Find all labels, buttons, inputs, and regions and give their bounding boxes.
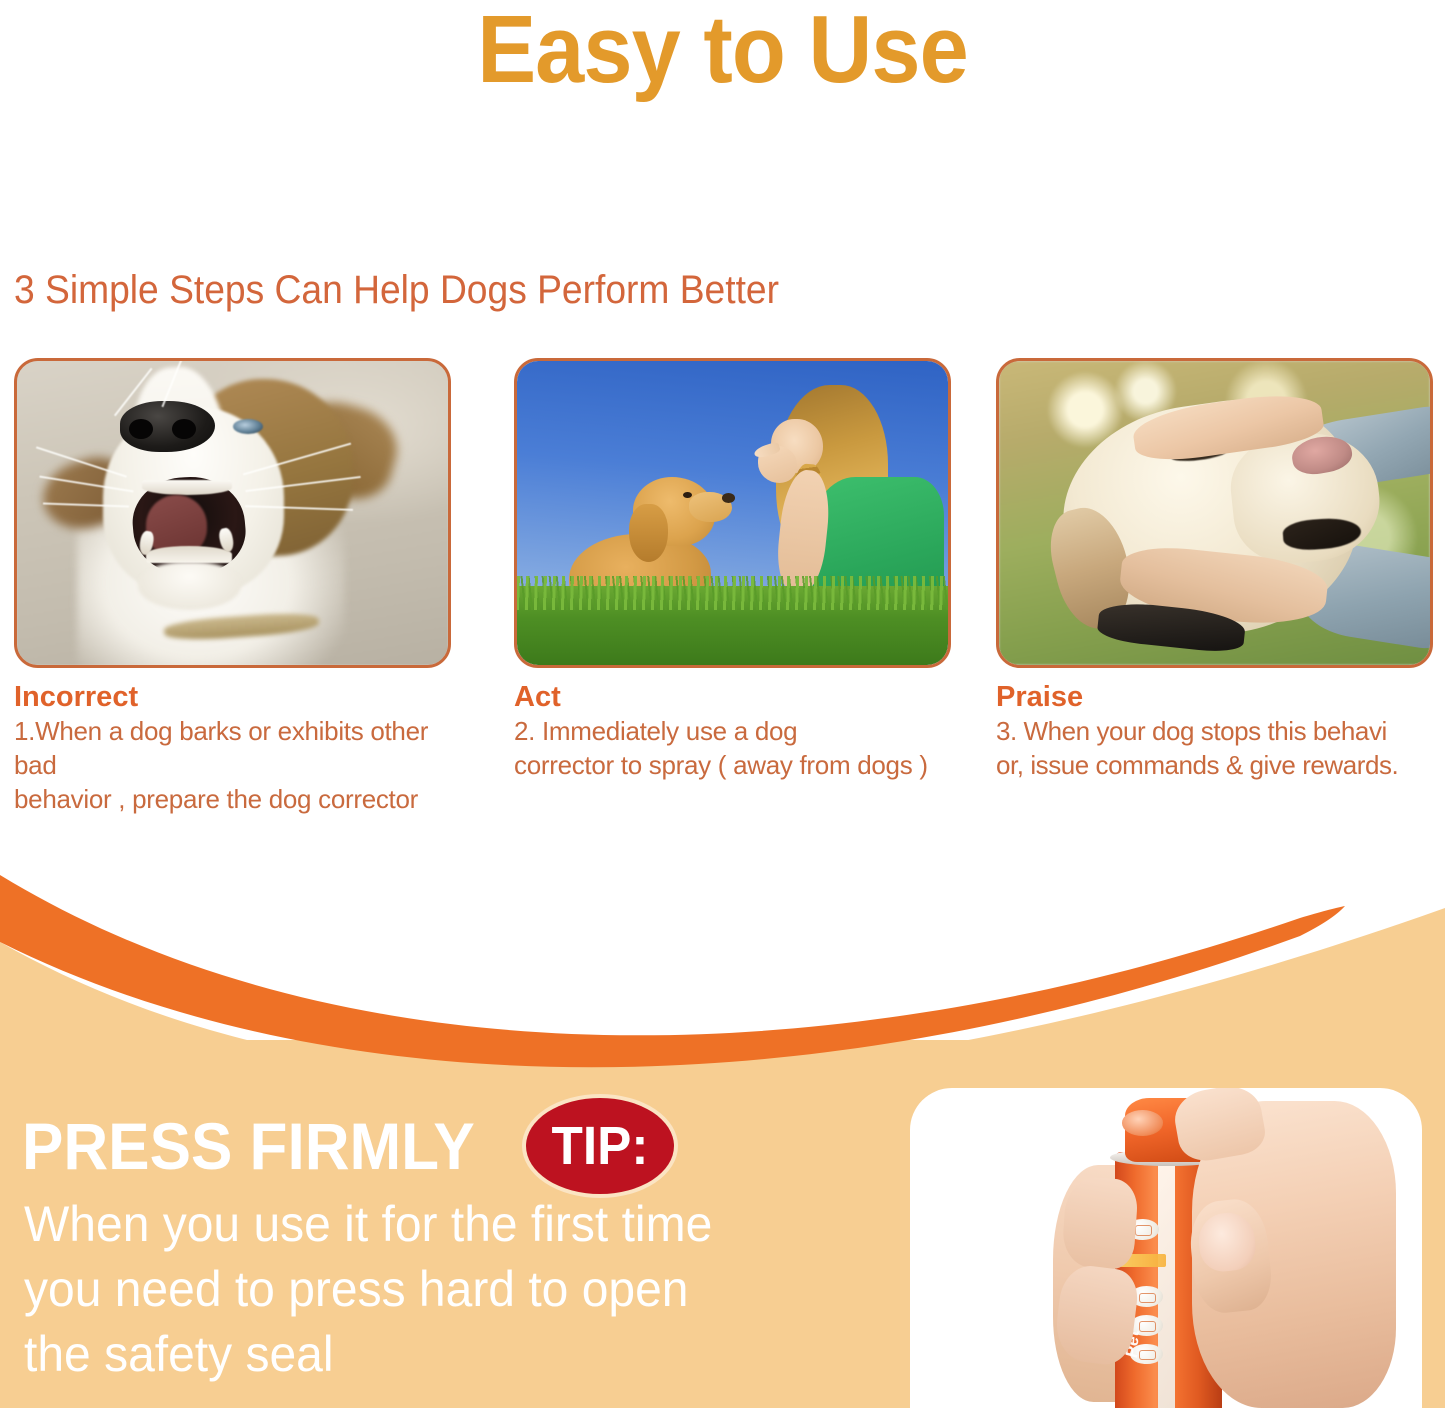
step-body: 3. When your dog stops this behavi or, i… [996,715,1433,783]
page-subtitle: 3 Simple Steps Can Help Dogs Perform Bet… [14,268,779,313]
step-heading: Act [514,682,951,712]
step-body-line: or, issue commands & give rewards. [996,749,1433,783]
steps-row: Incorrect 1.When a dog barks or exhibits… [0,358,1445,818]
step-body-line: 2. Immediately use a dog [514,715,951,749]
step-photo-training-dog [514,358,951,668]
step-photo-petting-dog [996,358,1433,668]
step-body: 1.When a dog barks or exhibits other bad… [14,715,451,816]
tip-body-line: When you use it for the first time [24,1192,840,1257]
tip-body-line: the safety seal [24,1322,840,1387]
step-body-line: 3. When your dog stops this behavi [996,715,1433,749]
step-body: 2. Immediately use a dog corrector to sp… [514,715,951,783]
page-title: Easy to Use [58,0,1387,104]
step-body-line: corrector to spray ( away from dogs ) [514,749,951,783]
tip-body-text: When you use it for the first time you n… [24,1192,840,1387]
tip-badge: TIP: [526,1098,674,1194]
infographic-page: Easy to Use 3 Simple Steps Can Help Dogs… [0,0,1445,1408]
step-card-incorrect: Incorrect 1.When a dog barks or exhibits… [14,358,451,817]
step-heading: Incorrect [14,682,451,712]
step-body-line: behavior , prepare the dog corrector [14,783,451,817]
tip-badge-label: TIP: [551,1119,648,1173]
step-body-line: 1.When a dog barks or exhibits other bad [14,715,451,783]
tip-body-line: you need to press hard to open [24,1257,840,1322]
press-firmly-row: PRESS FIRMLY TIP: [22,1098,674,1194]
step-photo-barking-dog [14,358,451,668]
press-firmly-heading: PRESS FIRMLY [22,1113,475,1179]
step-card-praise: Praise 3. When your dog stops this behav… [996,358,1433,783]
step-card-act: Act 2. Immediately use a dog corrector t… [514,358,951,783]
product-photo-card: Pet [910,1088,1422,1408]
step-heading: Praise [996,682,1433,712]
curved-divider [0,830,1445,1110]
